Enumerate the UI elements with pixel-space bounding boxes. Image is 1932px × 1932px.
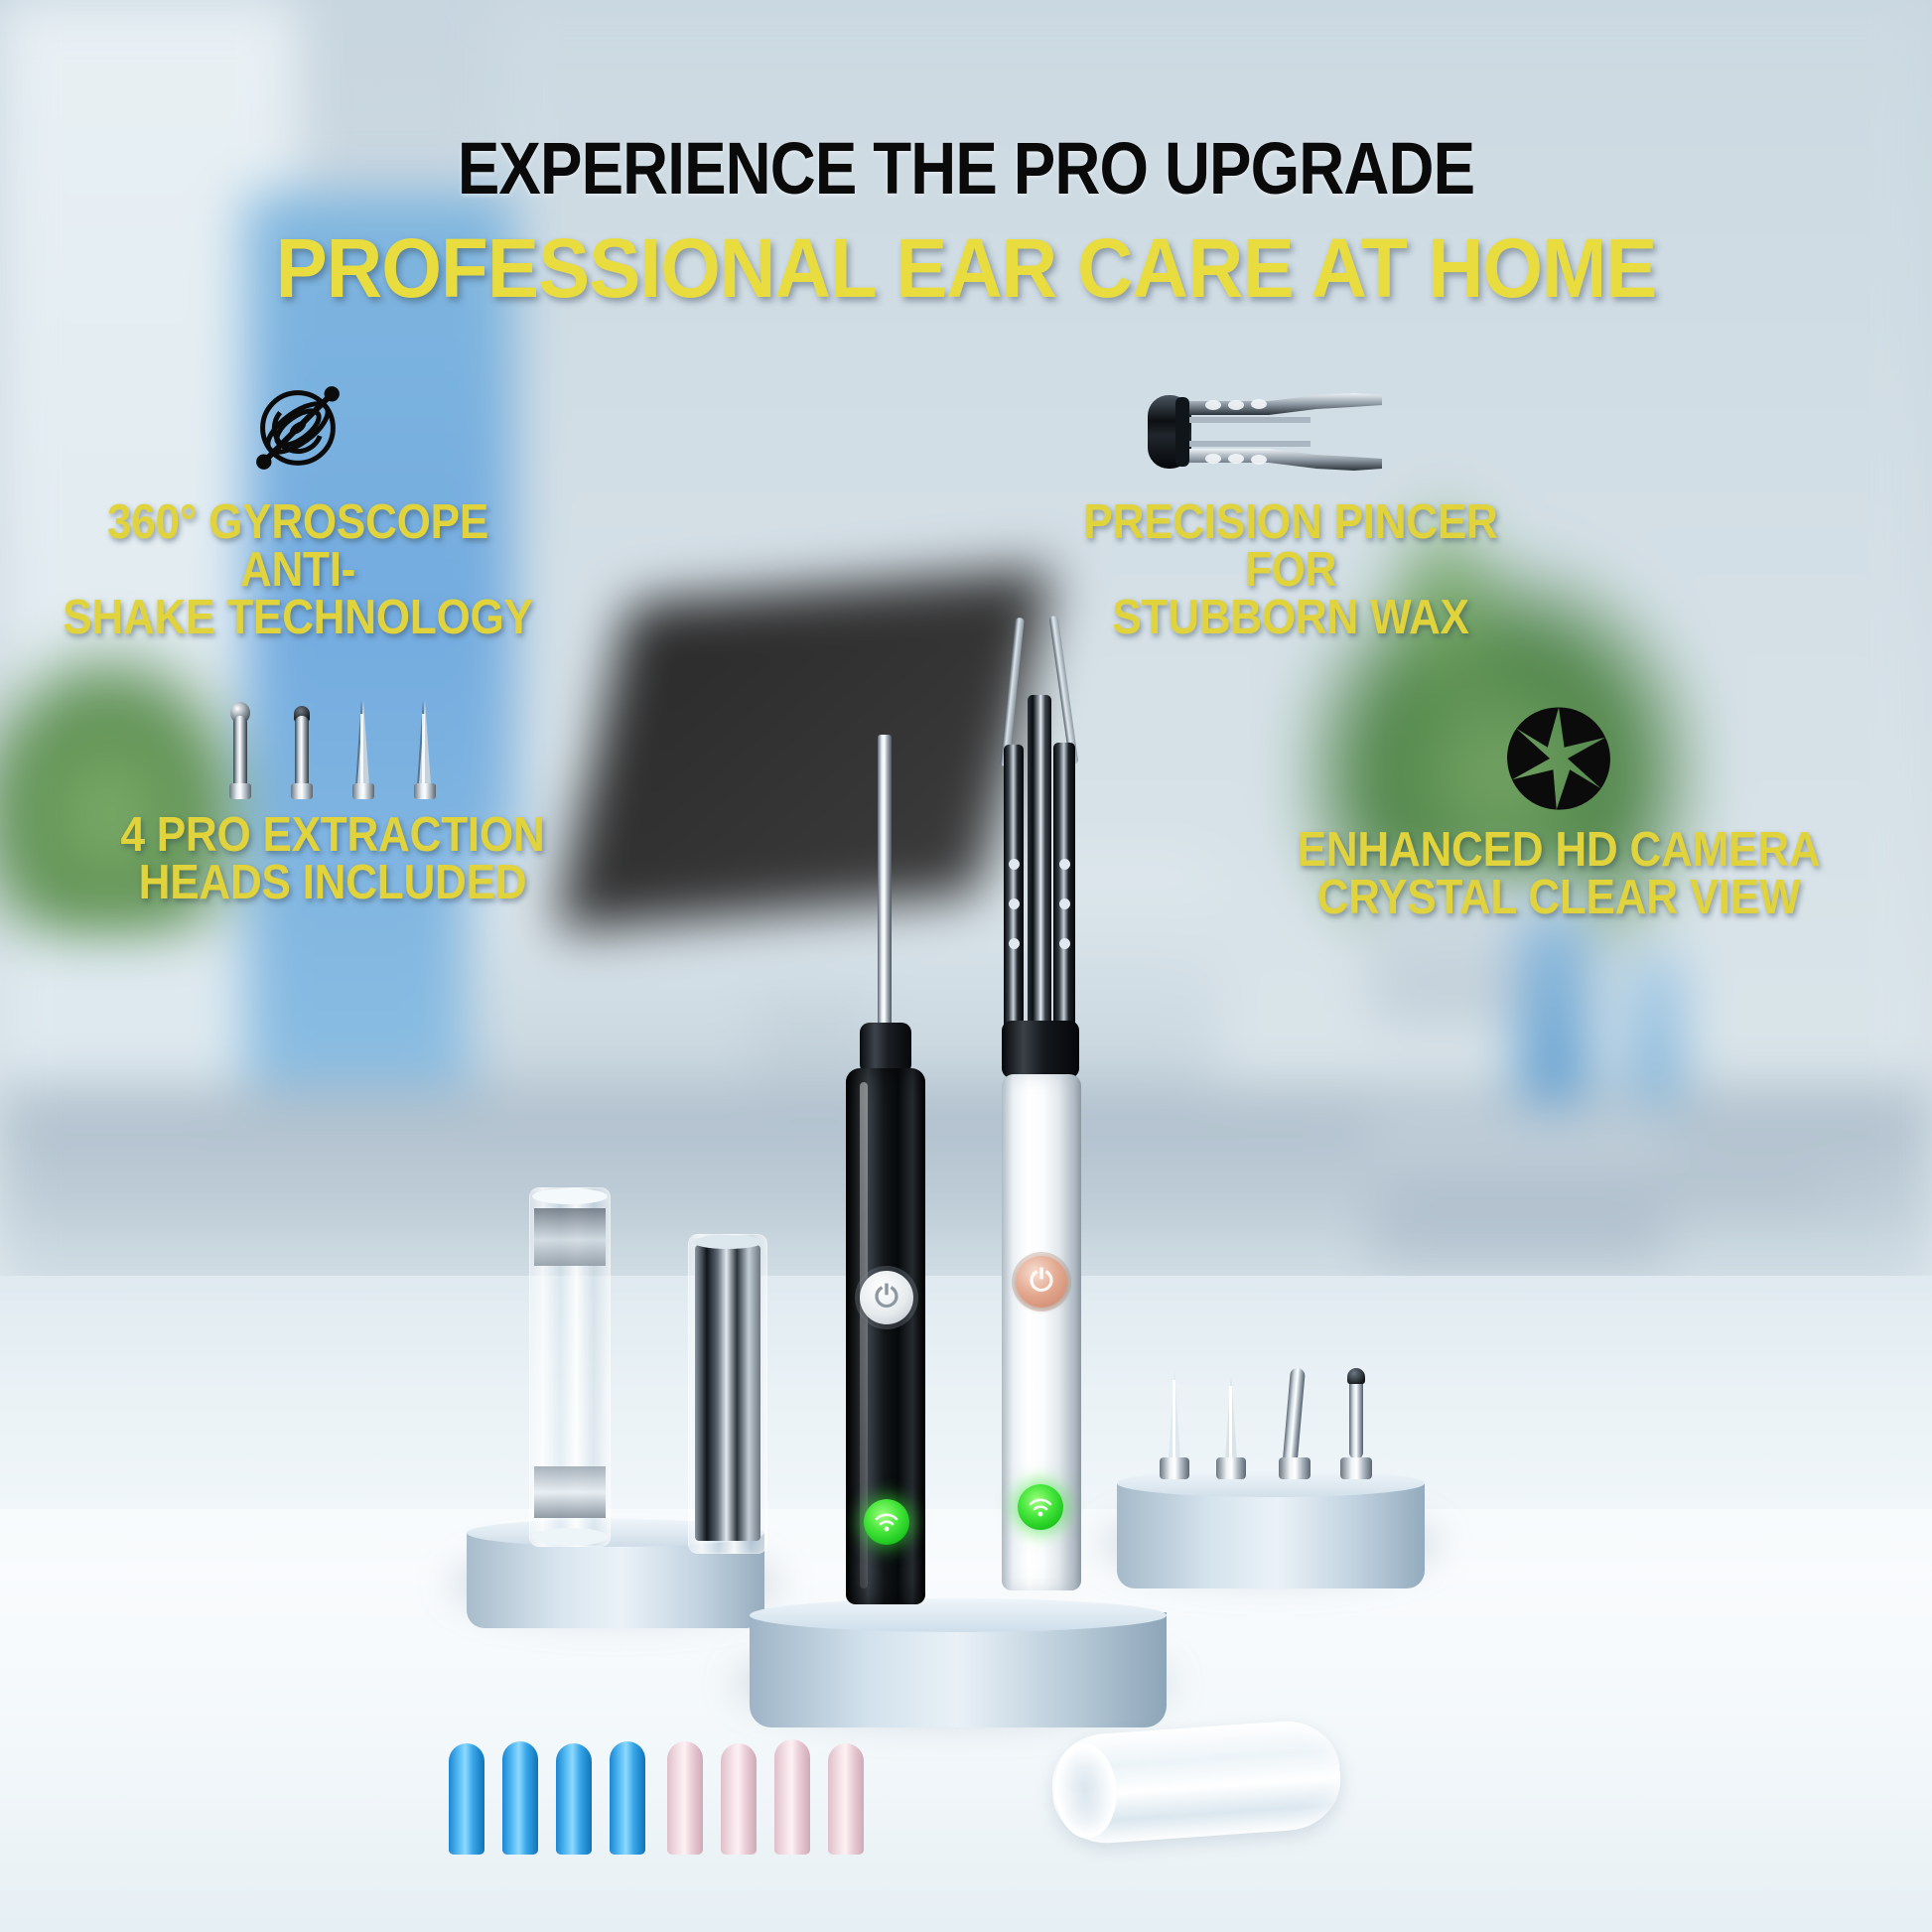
silicone-tip-pink-1 <box>667 1741 703 1855</box>
marketing-banner: EXPERIENCE THE PRO UPGRADE PROFESSIONAL … <box>0 0 1932 1932</box>
silicone-tip-blue-1 <box>449 1743 484 1855</box>
storage-tube-upright-1 <box>529 1187 611 1547</box>
silicone-tip-blue-4 <box>610 1741 645 1855</box>
black-wand-power-button[interactable]: ⏻ <box>860 1271 913 1324</box>
storage-tube-upright-2 <box>688 1234 767 1554</box>
silicone-tip-blue-3 <box>556 1743 592 1855</box>
black-wand-camera-head <box>860 1023 911 1074</box>
silicone-tip-pink-4 <box>828 1743 864 1855</box>
storage-tube-lying <box>1049 1718 1344 1847</box>
metal-head-curved <box>1279 1368 1311 1479</box>
black-ear-cleaning-wand[interactable]: ⏻ <box>834 735 937 1608</box>
silicone-tip-blue-2 <box>502 1741 538 1855</box>
metal-head-point-2 <box>1216 1375 1246 1479</box>
pedestal-center <box>750 1598 1167 1727</box>
product-scene: ⏻ <box>0 0 1932 1932</box>
metal-head-ball <box>1340 1372 1372 1479</box>
white-wand-status-led <box>1018 1484 1063 1530</box>
silicone-tip-pink-3 <box>774 1739 810 1855</box>
white-ear-cleaning-wand[interactable]: ⏻ <box>988 616 1097 1608</box>
black-wand-status-led <box>864 1499 909 1545</box>
black-wand-metal-probe <box>878 735 892 1033</box>
white-wand-power-button[interactable]: ⏻ <box>1016 1256 1067 1308</box>
metal-head-point-1 <box>1160 1370 1189 1479</box>
silicone-tip-pink-2 <box>721 1743 757 1855</box>
pedestal-right <box>1117 1469 1425 1588</box>
